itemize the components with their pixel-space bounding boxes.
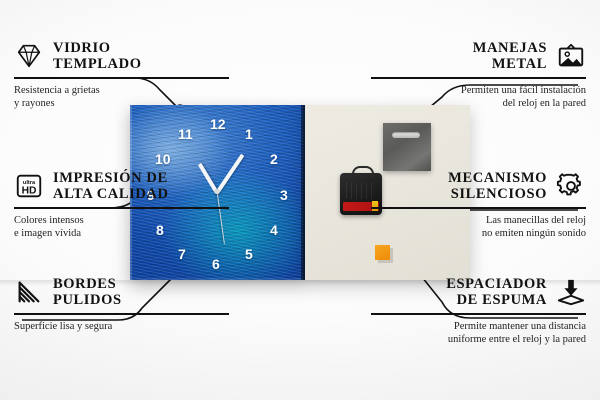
diamond-icon <box>14 41 44 71</box>
feature-title: ESPACIADOR DE ESPUMA <box>446 276 547 308</box>
feature-espaciador-de-espuma: ESPACIADOR DE ESPUMA Permite mantener un… <box>371 276 586 346</box>
metal-hanger-plate <box>383 123 431 171</box>
feature-desc: Permite mantener una distancia uniforme … <box>371 320 586 346</box>
feature-rule <box>14 77 229 79</box>
feature-desc: Resistencia a grietas y rayones <box>14 84 229 110</box>
feature-bordes-pulidos: BORDES PULIDOS Superficie lisa y segura <box>14 276 229 333</box>
feature-desc: Superficie lisa y segura <box>14 320 229 333</box>
feature-head: VIDRIO TEMPLADO <box>14 40 229 72</box>
hanger-slot <box>392 132 420 138</box>
feature-title: VIDRIO TEMPLADO <box>53 40 142 72</box>
feature-desc: Permiten una fácil instalación del reloj… <box>371 84 586 110</box>
gear-icon <box>556 171 586 201</box>
feature-desc: Colores intensos e imagen vívida <box>14 214 229 240</box>
clock-numeral-2: 2 <box>270 152 278 166</box>
feature-manejas-metal: MANEJAS METAL Permiten una fácil instala… <box>371 40 586 110</box>
feature-title: IMPRESIÓN DE ALTA CALIDAD <box>53 170 169 202</box>
feature-rule <box>371 77 586 79</box>
picture-hanger-icon <box>556 41 586 71</box>
clock-numeral-4: 4 <box>270 223 278 237</box>
feature-head: ultra HD IMPRESIÓN DE ALTA CALIDAD <box>14 170 229 202</box>
feature-head: ESPACIADOR DE ESPUMA <box>371 276 586 308</box>
feature-title: MECANISMO SILENCIOSO <box>448 170 547 202</box>
polished-edges-icon <box>14 277 44 307</box>
feature-mecanismo-silencioso: MECANISMO SILENCIOSO Las manecillas del … <box>371 170 586 240</box>
feature-rule <box>14 207 229 209</box>
feature-vidrio-templado: VIDRIO TEMPLADO Resistencia a grietas y … <box>14 40 229 110</box>
ultra-hd-icon: ultra HD <box>14 171 44 201</box>
clock-numeral-7: 7 <box>178 247 186 261</box>
clock-numeral-10: 10 <box>155 152 171 166</box>
feature-rule <box>371 207 586 209</box>
feature-title: BORDES PULIDOS <box>53 276 122 308</box>
feature-rule <box>371 313 586 315</box>
feature-head: MANEJAS METAL <box>371 40 586 72</box>
foam-spacer-square <box>375 245 390 260</box>
feature-impresion-alta-calidad: ultra HD IMPRESIÓN DE ALTA CALIDAD Color… <box>14 170 229 240</box>
clock-numeral-5: 5 <box>245 247 253 261</box>
feature-title: MANEJAS METAL <box>473 40 547 72</box>
ultra-hd-icon-main-label: HD <box>22 186 37 197</box>
clock-numeral-3: 3 <box>280 188 288 202</box>
clock-numeral-11: 11 <box>178 127 193 141</box>
clock-numeral-1: 1 <box>245 127 253 141</box>
feature-desc: Las manecillas del reloj no emiten ningú… <box>371 214 586 240</box>
foam-spacer-icon <box>556 277 586 307</box>
feature-head: MECANISMO SILENCIOSO <box>371 170 586 202</box>
feature-head: BORDES PULIDOS <box>14 276 229 308</box>
clock-numeral-12: 12 <box>210 117 226 131</box>
feature-rule <box>14 313 229 315</box>
infographic-stage: 12 1 2 3 4 5 6 7 8 9 10 11 <box>0 0 600 400</box>
clock-numeral-6: 6 <box>212 257 220 271</box>
